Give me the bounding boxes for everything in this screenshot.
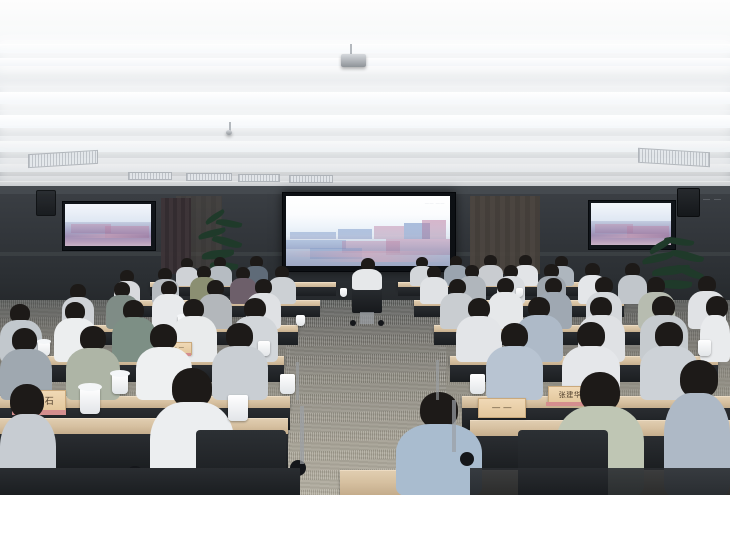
- desk-leg: [300, 406, 304, 464]
- torso: [486, 346, 543, 400]
- screen-skyline: [338, 229, 372, 239]
- chair-caster: [350, 320, 356, 326]
- plant-leaf: [670, 247, 705, 265]
- desk-front-panel: [470, 468, 730, 495]
- screen-skyline: [422, 220, 446, 239]
- ceiling-air-vent: [238, 174, 280, 182]
- chair-caster: [378, 320, 384, 326]
- front-row-presenter: [352, 258, 382, 290]
- conference-room-photograph: —— —— — —: [0, 0, 730, 495]
- screen-sky: [591, 203, 671, 222]
- wall-speaker-right: [677, 188, 700, 217]
- desk-front-panel: [0, 468, 300, 495]
- chair-caster: [460, 452, 474, 466]
- tea-mug: [340, 288, 347, 297]
- ceiling-sensor: [226, 130, 232, 135]
- desk-leg: [452, 400, 456, 452]
- desk-leg: [296, 362, 299, 400]
- tea-mug: [296, 315, 305, 326]
- tea-mug: [80, 388, 100, 414]
- screen-watermark: —— ——: [425, 200, 445, 205]
- tea-mug: [228, 395, 248, 421]
- screen-skyline: [374, 226, 404, 239]
- ceiling-air-vent: [289, 175, 333, 183]
- nameplate-text: — —: [492, 404, 512, 412]
- wall-sign-right: — —: [703, 196, 722, 203]
- main-led-screen[interactable]: —— ——: [286, 196, 450, 266]
- chair-base: [360, 312, 374, 324]
- torso: [352, 269, 382, 290]
- tea-mug: [470, 374, 485, 394]
- head: [655, 322, 683, 349]
- bottom-white-band: [0, 495, 730, 548]
- mug-lid: [78, 383, 102, 391]
- wall-speaker-left: [36, 190, 56, 216]
- ceiling-light-strip: [0, 141, 730, 152]
- head: [10, 384, 44, 418]
- head: [577, 322, 605, 349]
- ceiling-light-strip: [0, 115, 730, 128]
- ceiling-light-strip: [0, 92, 730, 104]
- ceiling-air-vent: [128, 172, 172, 180]
- tea-mug: [280, 374, 295, 394]
- desk-nameplate-center: — —: [478, 398, 526, 418]
- plant-leaf: [212, 233, 243, 251]
- ceiling-light-strip: [0, 44, 730, 53]
- screen-road: [65, 234, 151, 238]
- ceiling-projector: [341, 54, 366, 67]
- audience-member: [486, 323, 543, 400]
- tea-mug: [698, 340, 711, 356]
- ceiling-air-vent: [186, 173, 232, 181]
- photo-stage: —— —— — —: [0, 0, 730, 548]
- ceiling-light-strip: [0, 164, 730, 172]
- mug-lid: [110, 370, 130, 377]
- screen-skyline: [290, 232, 336, 239]
- tea-mug: [112, 374, 128, 394]
- desk-leg: [436, 360, 439, 400]
- screen-sky: [65, 204, 151, 223]
- left-side-led-screen[interactable]: [65, 204, 151, 246]
